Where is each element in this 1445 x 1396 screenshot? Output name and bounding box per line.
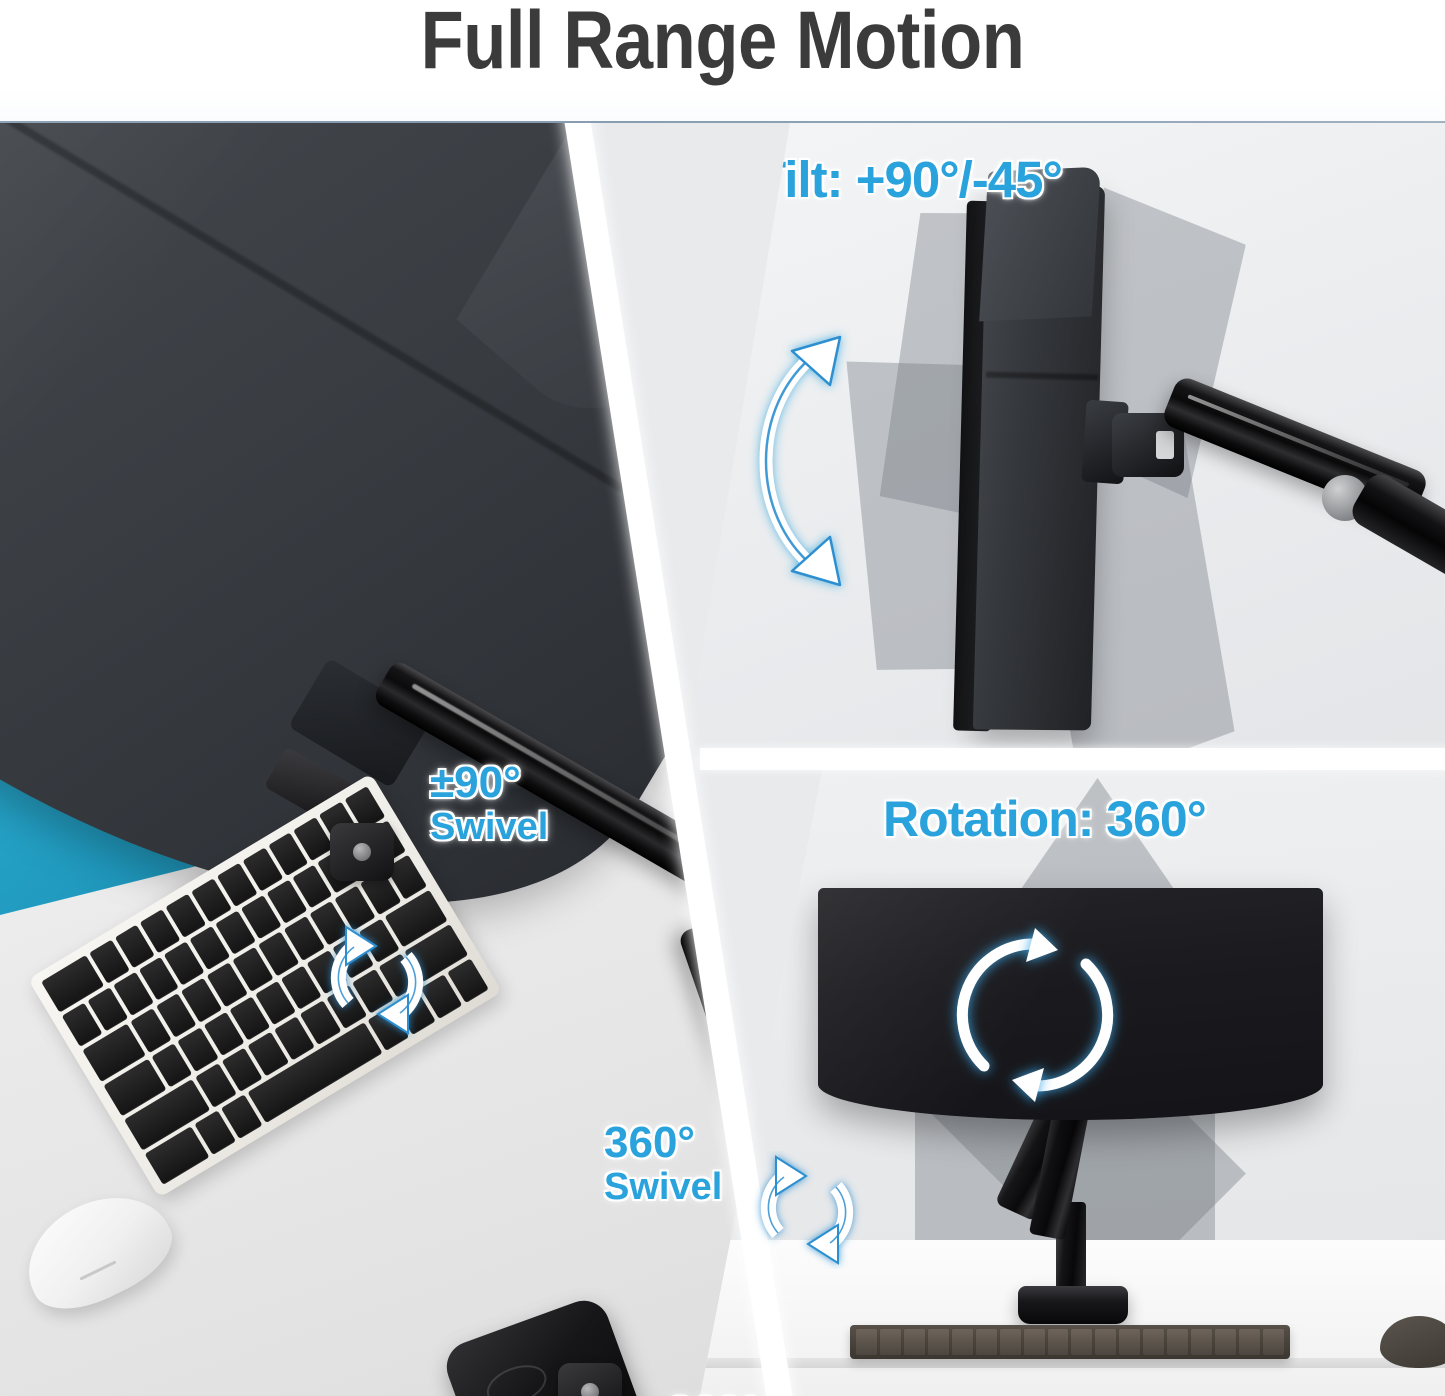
rotation-illustration-panel: Rotation: 360°	[700, 770, 1445, 1396]
swivel-callout-mid: 360° Swivel	[604, 1121, 722, 1206]
tilt-illustration-panel: Tilt: +90°/-45°	[660, 123, 1445, 759]
swivel-label: Swivel	[430, 808, 548, 846]
swivel-degrees: 360°	[668, 1391, 786, 1396]
header-band: Full Range Motion	[0, 0, 1445, 123]
rotation-label: Rotation: 360°	[883, 790, 1206, 848]
product-feature-image: Full Range Motion	[0, 0, 1445, 1396]
rotation-arm-base	[1018, 1286, 1128, 1324]
arm-base-joint	[558, 1363, 622, 1396]
image-body: Tilt: +90°/-45°	[0, 123, 1445, 1396]
swivel-degrees: ±90°	[430, 761, 548, 805]
horizontal-panel-divider	[700, 748, 1445, 770]
swivel-degrees: 360°	[604, 1121, 722, 1165]
swivel-label: Swivel	[604, 1168, 722, 1206]
rotation-keyboard	[850, 1325, 1290, 1359]
circular-rotation-arrows-icon	[940, 920, 1130, 1110]
curved-double-arrow-icon	[722, 311, 872, 611]
circular-swivel-arrows-icon	[318, 921, 436, 1039]
tilt-label: Tilt: +90°/-45°	[755, 150, 1062, 209]
page-title: Full Range Motion	[101, 0, 1344, 88]
arm-head-joint	[330, 823, 394, 881]
rotation-desk-edge	[700, 1358, 1445, 1368]
circular-swivel-arrows-icon	[748, 1151, 866, 1269]
swivel-callout-base: 360° Swivel	[668, 1391, 786, 1396]
swivel-callout-head: ±90° Swivel	[430, 761, 548, 846]
